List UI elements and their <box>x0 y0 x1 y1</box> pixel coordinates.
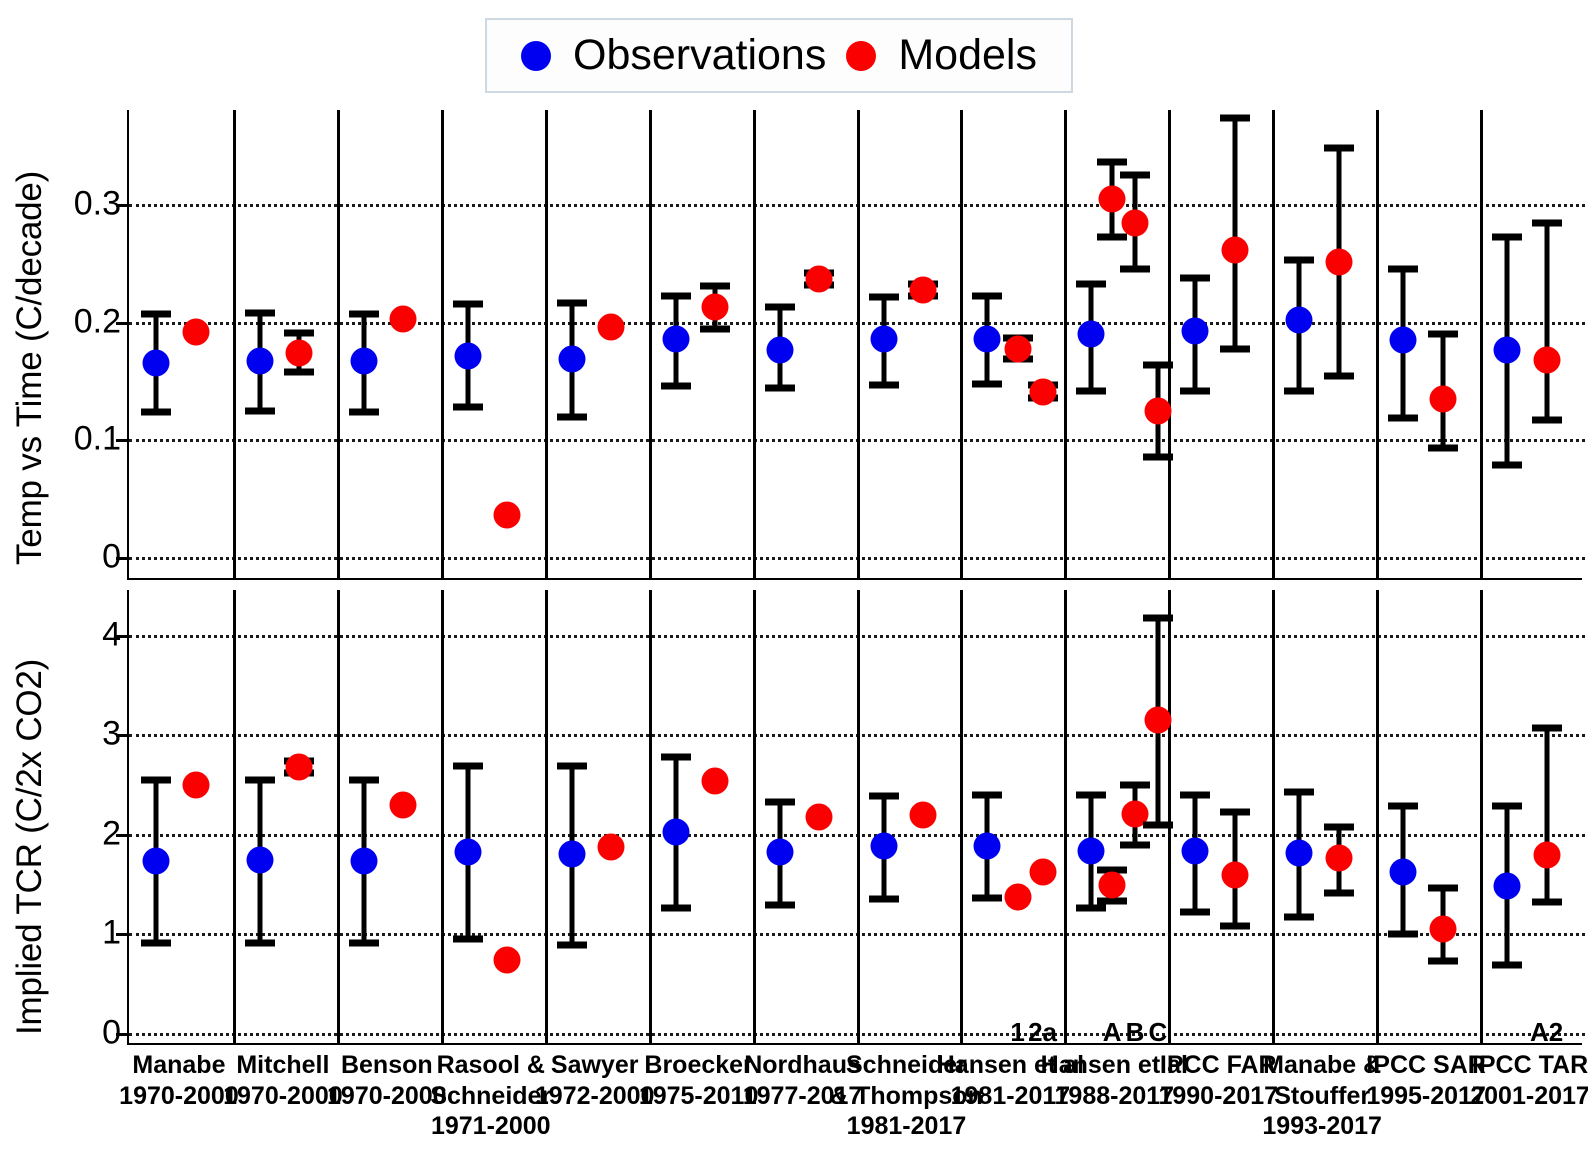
data-point-observation <box>662 326 689 353</box>
error-bar-cap <box>1076 904 1106 911</box>
x-axis-group-label-line: IPCC FAR <box>1158 1050 1278 1081</box>
panel-separator <box>545 110 548 578</box>
data-point-observation <box>1286 307 1313 334</box>
error-bar-cap <box>284 330 314 337</box>
error-bar-cap <box>557 942 587 949</box>
panel-separator <box>1064 590 1067 1043</box>
error-bar-cap <box>972 292 1002 299</box>
data-point-model <box>806 804 833 831</box>
scenario-sublabel: A2 <box>1530 1017 1563 1048</box>
panel-separator <box>545 590 548 1043</box>
data-point-model <box>494 502 521 529</box>
plot-area-implied-tcr: 0123412aABCA2 <box>129 590 1582 1043</box>
error-bar-cap <box>1180 387 1210 394</box>
panel-separator <box>1272 110 1275 578</box>
data-point-observation <box>558 840 585 867</box>
error-bar-cap <box>765 304 795 311</box>
error-bar-cap <box>284 369 314 376</box>
y-axis-tick-label: 2 <box>102 814 121 853</box>
error-bar <box>1232 118 1237 348</box>
y-axis-tick-label: 1 <box>102 914 121 953</box>
error-bar-cap <box>453 300 483 307</box>
error-bar-cap <box>765 385 795 392</box>
data-point-model <box>182 319 209 346</box>
error-bar-cap <box>1120 265 1150 272</box>
x-axis-group-label: Broecker1975-2010 <box>639 1050 759 1111</box>
error-bar-cap <box>1388 414 1418 421</box>
error-bar <box>1544 728 1549 901</box>
error-bar-cap <box>1324 144 1354 151</box>
error-bar-cap <box>1120 782 1150 789</box>
data-point-model <box>1099 871 1126 898</box>
x-axis-group-label: Manabe1970-2000 <box>119 1050 239 1111</box>
data-point-model <box>286 754 313 781</box>
x-axis-group-labels: Manabe1970-2000Mitchell1970-2000Benson19… <box>127 1050 1582 1154</box>
x-axis-group-label-line: IPCC TAR <box>1470 1050 1588 1081</box>
error-bar-cap <box>141 940 171 947</box>
data-point-model <box>390 306 417 333</box>
plot-area-temp-vs-time: 00.10.20.3 <box>129 110 1582 578</box>
error-bar-cap <box>245 310 275 317</box>
x-axis-group-label-line: 1975-2010 <box>639 1081 759 1112</box>
error-bar-cap <box>1284 789 1314 796</box>
x-axis-group-label-line: Broecker <box>639 1050 759 1081</box>
y-axis-title-top: Temp vs Time (C/decade) <box>10 171 50 565</box>
filled-circle-icon-models <box>846 41 876 71</box>
error-bar-cap <box>1143 614 1173 621</box>
error-bar-cap <box>349 940 379 947</box>
error-bar-cap <box>1120 171 1150 178</box>
error-bar-cap <box>1120 841 1150 848</box>
scenario-sublabel: 2a <box>1028 1017 1057 1048</box>
error-bar-cap <box>141 311 171 318</box>
error-bar-cap <box>453 404 483 411</box>
data-point-model <box>1221 861 1248 888</box>
data-point-observation <box>1078 837 1105 864</box>
panel-separator <box>1168 590 1171 1043</box>
data-point-model <box>1029 379 1056 406</box>
error-bar-cap <box>1076 280 1106 287</box>
error-bar-cap <box>1492 461 1522 468</box>
panel-separator <box>960 110 963 578</box>
data-point-model <box>1429 915 1456 942</box>
error-bar-cap <box>1532 417 1562 424</box>
error-bar-cap <box>1428 958 1458 965</box>
data-point-model <box>806 266 833 293</box>
data-point-model <box>1029 858 1056 885</box>
error-bar-cap <box>661 904 691 911</box>
panel-separator <box>649 590 652 1043</box>
panel-separator <box>233 590 236 1043</box>
legend-entry-observations: Observations <box>521 34 826 77</box>
error-bar-cap <box>869 381 899 388</box>
error-bar-cap <box>557 413 587 420</box>
data-point-model <box>494 947 521 974</box>
panel-separator <box>1064 110 1067 578</box>
chart-legend: Observations Models <box>485 18 1073 93</box>
error-bar-cap <box>1076 792 1106 799</box>
data-point-model <box>1533 347 1560 374</box>
panel-separator <box>1376 110 1379 578</box>
y-axis-tick-label: 0 <box>102 1014 121 1053</box>
error-bar <box>1544 223 1549 420</box>
error-bar-cap <box>141 777 171 784</box>
error-bar-cap <box>700 325 730 332</box>
panel-separator <box>1168 110 1171 578</box>
error-bar-cap <box>1532 725 1562 732</box>
panel-separator <box>1480 590 1483 1043</box>
error-bar-cap <box>765 901 795 908</box>
panel-separator <box>960 590 963 1043</box>
data-point-observation <box>454 342 481 369</box>
x-axis-group-label: IPCC FAR1990-2017 <box>1158 1050 1278 1111</box>
panel-separator <box>337 590 340 1043</box>
plot-panel-implied-tcr: 0123412aABCA2 <box>127 590 1582 1045</box>
data-point-model <box>702 294 729 321</box>
y-axis-tick-label: 0.2 <box>74 302 121 341</box>
error-bar-cap <box>1220 115 1250 122</box>
scenario-sublabel: B <box>1126 1017 1145 1048</box>
error-bar-cap <box>1428 331 1458 338</box>
panel-separator <box>441 110 444 578</box>
data-point-model <box>1533 841 1560 868</box>
data-point-model <box>598 833 625 860</box>
panel-separator <box>1376 590 1379 1043</box>
x-axis-group-label-line: 1970-2000 <box>119 1081 239 1112</box>
x-axis-group-label-line: Schneider <box>430 1081 551 1112</box>
panel-separator <box>441 590 444 1043</box>
x-axis-group-label-line: Sawyer <box>535 1050 655 1081</box>
error-bar-cap <box>1492 233 1522 240</box>
chart-root: Observations Models Temp vs Time (C/deca… <box>0 0 1588 1154</box>
error-bar-cap <box>869 895 899 902</box>
data-point-model <box>1429 386 1456 413</box>
error-bar-cap <box>453 936 483 943</box>
data-point-model <box>1099 186 1126 213</box>
error-bar-cap <box>1220 809 1250 816</box>
data-point-observation <box>143 847 170 874</box>
error-bar-cap <box>557 299 587 306</box>
error-bar-cap <box>661 292 691 299</box>
y-axis-tick-label: 0.1 <box>74 420 121 459</box>
error-bar-cap <box>1324 372 1354 379</box>
error-bar-cap <box>1388 265 1418 272</box>
error-bar-cap <box>972 894 1002 901</box>
error-bar-cap <box>1180 792 1210 799</box>
error-bar-cap <box>700 283 730 290</box>
error-bar-cap <box>1180 908 1210 915</box>
error-bar-cap <box>1388 931 1418 938</box>
data-point-observation <box>1494 872 1521 899</box>
error-bar-cap <box>869 793 899 800</box>
error-bar-cap <box>1097 233 1127 240</box>
data-point-model <box>1144 397 1171 424</box>
panel-separator <box>857 110 860 578</box>
data-point-observation <box>143 349 170 376</box>
y-axis-title-bottom: Implied TCR (C/2x CO2) <box>10 659 50 1035</box>
x-axis-group-label: Benson1970-2000 <box>327 1050 447 1111</box>
error-bar-cap <box>453 763 483 770</box>
data-point-observation <box>1182 317 1209 344</box>
data-point-observation <box>1390 858 1417 885</box>
data-point-model <box>1004 883 1031 910</box>
error-bar-cap <box>1220 922 1250 929</box>
error-bar-cap <box>1143 821 1173 828</box>
error-bar-cap <box>1492 803 1522 810</box>
error-bar-cap <box>869 293 899 300</box>
error-bar-cap <box>245 777 275 784</box>
error-bar-cap <box>1097 158 1127 165</box>
error-bar-cap <box>349 311 379 318</box>
data-point-model <box>910 802 937 829</box>
error-bar-cap <box>1284 913 1314 920</box>
data-point-model <box>702 768 729 795</box>
data-point-observation <box>974 832 1001 859</box>
panel-separator <box>753 110 756 578</box>
error-bar-cap <box>1324 889 1354 896</box>
error-bar-cap <box>661 383 691 390</box>
error-bar-cap <box>349 777 379 784</box>
data-point-observation <box>1390 327 1417 354</box>
data-point-observation <box>974 326 1001 353</box>
x-axis-group-label: IPCC TAR2001-2017 <box>1470 1050 1588 1111</box>
data-point-model <box>390 792 417 819</box>
scenario-sublabel: 1 <box>1010 1017 1024 1048</box>
legend-label-models: Models <box>898 34 1037 77</box>
plot-panel-temp-vs-time: 00.10.20.3 <box>127 110 1582 580</box>
x-axis-group-label-line: 2001-2017 <box>1470 1081 1588 1112</box>
error-bar-cap <box>1388 803 1418 810</box>
y-axis-tick-label: 3 <box>102 715 121 754</box>
x-axis-group-label-line: Stouffer <box>1262 1081 1382 1112</box>
panel-separator <box>1480 110 1483 578</box>
panel-separator <box>649 110 652 578</box>
x-axis-group-label: Mitchell1970-2000 <box>223 1050 343 1111</box>
panel-separator <box>857 590 860 1043</box>
data-point-observation <box>766 336 793 363</box>
error-bar-cap <box>349 408 379 415</box>
data-point-model <box>598 314 625 341</box>
data-point-observation <box>350 847 377 874</box>
y-axis-tick-label: 4 <box>102 615 121 654</box>
data-point-model <box>286 340 313 367</box>
data-point-model <box>1122 209 1149 236</box>
legend-entry-models: Models <box>846 34 1037 77</box>
error-bar-cap <box>245 407 275 414</box>
x-axis-group-label-line: Benson <box>327 1050 447 1081</box>
data-point-observation <box>558 346 585 373</box>
panel-separator <box>753 590 756 1043</box>
error-bar-cap <box>765 799 795 806</box>
error-bar-cap <box>141 408 171 415</box>
x-axis-group-label: Rasool &Schneider1971-2000 <box>430 1050 551 1142</box>
x-axis-group-label-line: IPCC SAR <box>1366 1050 1486 1081</box>
error-bar-cap <box>972 380 1002 387</box>
error-bar-cap <box>1428 445 1458 452</box>
x-axis-group-label: Sawyer1972-2000 <box>535 1050 655 1111</box>
data-point-observation <box>246 348 273 375</box>
y-axis-tick-label: 0.3 <box>74 185 121 224</box>
error-bar-cap <box>1532 898 1562 905</box>
error-bar-cap <box>1180 275 1210 282</box>
data-point-model <box>1325 844 1352 871</box>
error-bar-cap <box>1284 257 1314 264</box>
scenario-sublabel: C <box>1149 1017 1168 1048</box>
scenario-sublabel: A <box>1103 1017 1122 1048</box>
panel-separator <box>1272 590 1275 1043</box>
error-bar-cap <box>1492 962 1522 969</box>
x-axis-group-label-line: Manabe & <box>1262 1050 1382 1081</box>
error-bar-cap <box>972 792 1002 799</box>
x-axis-group-label: Manabe &Stouffer1993-2017 <box>1262 1050 1382 1142</box>
data-point-observation <box>1286 839 1313 866</box>
filled-circle-icon-observations <box>521 41 551 71</box>
error-bar-cap <box>1532 219 1562 226</box>
error-bar-cap <box>1324 823 1354 830</box>
error-bar-cap <box>245 940 275 947</box>
error-bar-cap <box>1076 387 1106 394</box>
data-point-model <box>910 276 937 303</box>
x-axis-group-label-line: 1971-2000 <box>430 1111 551 1142</box>
x-axis-group-label-line: Rasool & <box>430 1050 551 1081</box>
x-axis-group-label-line: Mitchell <box>223 1050 343 1081</box>
error-bar-cap <box>1143 361 1173 368</box>
data-point-observation <box>662 818 689 845</box>
data-point-model <box>1325 248 1352 275</box>
panel-separator <box>233 110 236 578</box>
data-point-observation <box>870 326 897 353</box>
x-axis-group-label-line: 1995-2017 <box>1366 1081 1486 1112</box>
data-point-model <box>1221 236 1248 263</box>
legend-label-observations: Observations <box>573 34 826 77</box>
data-point-observation <box>1494 336 1521 363</box>
y-axis-tick-label: 0 <box>102 537 121 576</box>
panel-separator <box>337 110 340 578</box>
error-bar-cap <box>1220 345 1250 352</box>
data-point-observation <box>766 838 793 865</box>
x-axis-group-label-line: 1993-2017 <box>1262 1111 1382 1142</box>
x-axis-group-label: IPCC SAR1995-2017 <box>1366 1050 1486 1111</box>
data-point-model <box>1004 335 1031 362</box>
x-axis-group-label-line: 1990-2017 <box>1158 1081 1278 1112</box>
x-axis-group-label-line: 1970-2000 <box>327 1081 447 1112</box>
error-bar-cap <box>1284 387 1314 394</box>
data-point-model <box>1144 707 1171 734</box>
data-point-observation <box>454 838 481 865</box>
error-bar-cap <box>1143 453 1173 460</box>
x-axis-group-label-line: 1970-2000 <box>223 1081 343 1112</box>
x-axis-group-label-line: 1981-2017 <box>830 1111 983 1142</box>
data-point-observation <box>1078 321 1105 348</box>
data-point-observation <box>246 846 273 873</box>
data-point-observation <box>870 832 897 859</box>
error-bar-cap <box>1428 884 1458 891</box>
error-bar-cap <box>557 763 587 770</box>
data-point-observation <box>350 348 377 375</box>
error-bar-cap <box>661 754 691 761</box>
x-axis-group-label-line: 1972-2000 <box>535 1081 655 1112</box>
x-axis-group-label-line: Manabe <box>119 1050 239 1081</box>
data-point-model <box>182 772 209 799</box>
data-point-observation <box>1182 837 1209 864</box>
